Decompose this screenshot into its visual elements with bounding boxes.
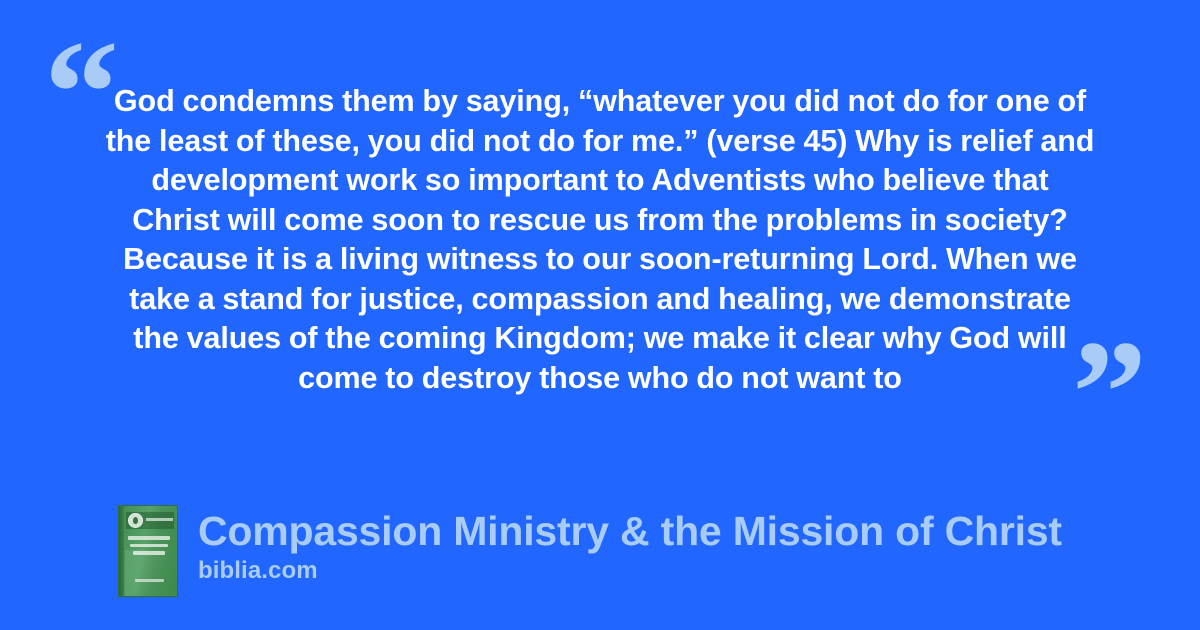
quote-card: “ God condemns them by saying, “whatever…: [0, 0, 1200, 630]
resource-title: Compassion Ministry & the Mission of Chr…: [198, 507, 1062, 555]
book-cover-thumbnail: [118, 505, 178, 597]
publisher-emblem-icon: [128, 513, 143, 528]
book-cover-sheen: [125, 550, 178, 597]
quote-block: God condemns them by saying, “whatever y…: [105, 82, 1095, 398]
closing-quote-icon: ”: [1072, 318, 1149, 468]
source-url[interactable]: biblia.com: [198, 557, 1062, 585]
publisher-series-text: [146, 518, 173, 521]
footer: Compassion Ministry & the Mission of Chr…: [118, 505, 1062, 597]
footer-text-group: Compassion Ministry & the Mission of Chr…: [198, 505, 1062, 585]
book-spine: [119, 506, 124, 596]
quote-text: God condemns them by saying, “whatever y…: [105, 82, 1095, 398]
